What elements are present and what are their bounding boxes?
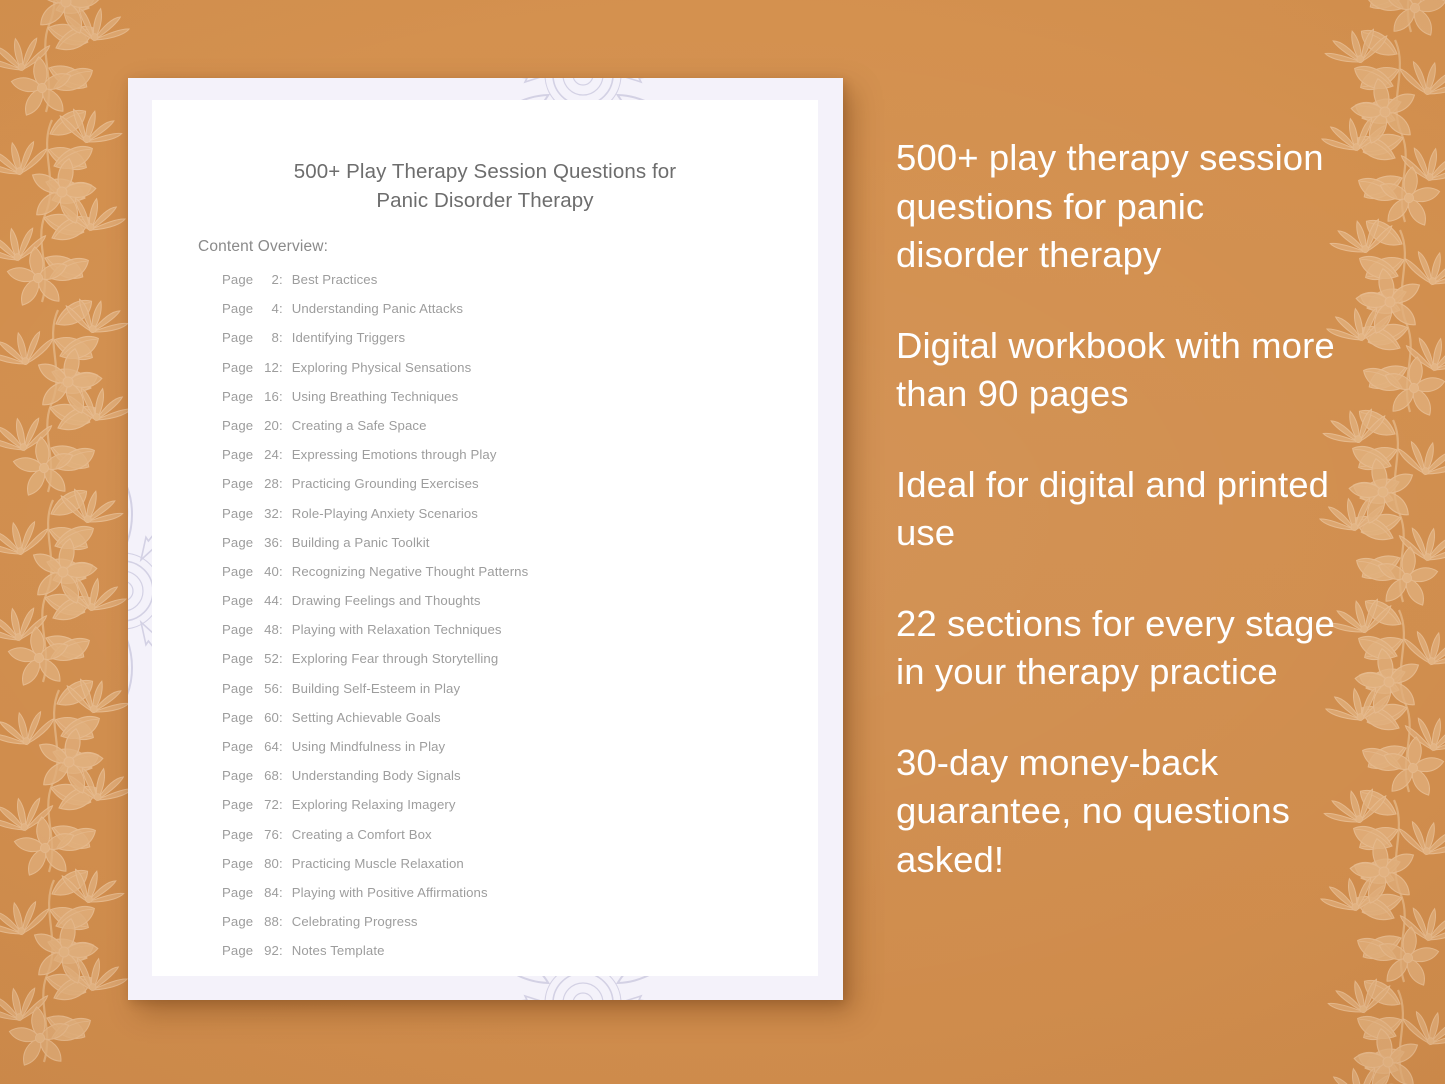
toc-page-word: Page bbox=[222, 768, 253, 783]
toc-entry: Page 60: Setting Achievable Goals bbox=[222, 710, 782, 739]
document-title-line-1: 500+ Play Therapy Session Questions for bbox=[212, 157, 758, 186]
toc-page-number: 12 bbox=[257, 360, 279, 375]
toc-entry: Page 4: Understanding Panic Attacks bbox=[222, 301, 782, 330]
table-of-contents: Page 2: Best Practices Page 4: Understan… bbox=[222, 272, 782, 973]
toc-colon: : bbox=[279, 739, 292, 754]
toc-page-word: Page bbox=[222, 301, 253, 316]
toc-entry-title: Notes Template bbox=[292, 943, 385, 958]
toc-page-word: Page bbox=[222, 564, 253, 579]
toc-entry-title: Practicing Muscle Relaxation bbox=[292, 856, 464, 871]
toc-entry: Page 28: Practicing Grounding Exercises bbox=[222, 476, 782, 505]
toc-entry: Page 68: Understanding Body Signals bbox=[222, 768, 782, 797]
promo-column: 500+ play therapy session questions for … bbox=[896, 134, 1336, 884]
toc-colon: : bbox=[279, 447, 292, 462]
toc-entry-title: Identifying Triggers bbox=[292, 330, 405, 345]
toc-colon: : bbox=[279, 885, 292, 900]
toc-page-number: 36 bbox=[257, 535, 279, 550]
toc-colon: : bbox=[279, 301, 292, 316]
toc-page-number: 24 bbox=[257, 447, 279, 462]
toc-colon: : bbox=[279, 681, 292, 696]
toc-entry: Page 80: Practicing Muscle Relaxation bbox=[222, 856, 782, 885]
toc-entry-title: Building Self-Esteem in Play bbox=[292, 681, 460, 696]
toc-entry: Page 36: Building a Panic Toolkit bbox=[222, 535, 782, 564]
toc-entry: Page 44: Drawing Feelings and Thoughts bbox=[222, 593, 782, 622]
toc-entry: Page 76: Creating a Comfort Box bbox=[222, 827, 782, 856]
toc-colon: : bbox=[279, 768, 292, 783]
toc-page-word: Page bbox=[222, 447, 253, 462]
document-title-line-2: Panic Disorder Therapy bbox=[212, 186, 758, 215]
toc-page-number: 16 bbox=[257, 389, 279, 404]
toc-page-number: 44 bbox=[257, 593, 279, 608]
toc-entry-title: Building a Panic Toolkit bbox=[292, 535, 430, 550]
toc-page-number: 32 bbox=[257, 506, 279, 521]
toc-entry-title: Using Breathing Techniques bbox=[292, 389, 459, 404]
toc-entry-title: Using Mindfulness in Play bbox=[292, 739, 446, 754]
toc-page-word: Page bbox=[222, 651, 253, 666]
toc-page-number: 40 bbox=[257, 564, 279, 579]
toc-colon: : bbox=[279, 272, 292, 287]
toc-page-number: 76 bbox=[257, 827, 279, 842]
toc-colon: : bbox=[279, 943, 292, 958]
toc-entry-title: Understanding Panic Attacks bbox=[292, 301, 463, 316]
toc-entry-title: Expressing Emotions through Play bbox=[292, 447, 497, 462]
toc-colon: : bbox=[279, 506, 292, 521]
toc-colon: : bbox=[279, 476, 292, 491]
toc-entry-title: Exploring Relaxing Imagery bbox=[292, 797, 456, 812]
toc-page-number: 88 bbox=[257, 914, 279, 929]
toc-page-word: Page bbox=[222, 856, 253, 871]
toc-colon: : bbox=[279, 914, 292, 929]
toc-entry: Page 48: Playing with Relaxation Techniq… bbox=[222, 622, 782, 651]
toc-page-word: Page bbox=[222, 827, 253, 842]
toc-page-word: Page bbox=[222, 739, 253, 754]
toc-page-word: Page bbox=[222, 885, 253, 900]
toc-entry: Page 72: Exploring Relaxing Imagery bbox=[222, 797, 782, 826]
toc-page-word: Page bbox=[222, 389, 253, 404]
toc-page-word: Page bbox=[222, 272, 253, 287]
toc-colon: : bbox=[279, 535, 292, 550]
promo-block-5: 30-day money-back guarantee, no question… bbox=[896, 739, 1336, 885]
promo-block-1: 500+ play therapy session questions for … bbox=[896, 134, 1336, 280]
toc-page-word: Page bbox=[222, 476, 253, 491]
toc-colon: : bbox=[279, 710, 292, 725]
toc-entry: Page 92: Notes Template bbox=[222, 943, 782, 972]
toc-entry-title: Best Practices bbox=[292, 272, 378, 287]
toc-colon: : bbox=[279, 418, 292, 433]
toc-entry: Page 40: Recognizing Negative Thought Pa… bbox=[222, 564, 782, 593]
toc-colon: : bbox=[279, 651, 292, 666]
toc-page-number: 64 bbox=[257, 739, 279, 754]
toc-entry: Page 24: Expressing Emotions through Pla… bbox=[222, 447, 782, 476]
toc-page-number: 72 bbox=[257, 797, 279, 812]
toc-page-number: 20 bbox=[257, 418, 279, 433]
toc-page-word: Page bbox=[222, 506, 253, 521]
toc-page-number: 4 bbox=[257, 301, 279, 316]
toc-page-number: 52 bbox=[257, 651, 279, 666]
toc-entry-title: Celebrating Progress bbox=[292, 914, 418, 929]
toc-page-word: Page bbox=[222, 330, 253, 345]
toc-page-word: Page bbox=[222, 914, 253, 929]
toc-entry-title: Recognizing Negative Thought Patterns bbox=[292, 564, 529, 579]
toc-colon: : bbox=[279, 622, 292, 637]
toc-colon: : bbox=[279, 564, 292, 579]
toc-entry-title: Understanding Body Signals bbox=[292, 768, 461, 783]
toc-colon: : bbox=[279, 389, 292, 404]
toc-entry: Page 64: Using Mindfulness in Play bbox=[222, 739, 782, 768]
toc-entry: Page 32: Role-Playing Anxiety Scenarios bbox=[222, 506, 782, 535]
toc-page-word: Page bbox=[222, 418, 253, 433]
toc-entry-title: Playing with Positive Affirmations bbox=[292, 885, 488, 900]
promo-block-4: 22 sections for every stage in your ther… bbox=[896, 600, 1336, 697]
toc-entry-title: Exploring Fear through Storytelling bbox=[292, 651, 499, 666]
toc-entry-title: Practicing Grounding Exercises bbox=[292, 476, 479, 491]
document-page: 500+ Play Therapy Session Questions for … bbox=[152, 100, 818, 976]
toc-page-word: Page bbox=[222, 710, 253, 725]
toc-page-number: 68 bbox=[257, 768, 279, 783]
toc-entry-title: Setting Achievable Goals bbox=[292, 710, 441, 725]
toc-page-number: 84 bbox=[257, 885, 279, 900]
document-title: 500+ Play Therapy Session Questions for … bbox=[152, 157, 818, 215]
toc-colon: : bbox=[279, 360, 292, 375]
floral-vine-left-icon bbox=[0, 0, 144, 1084]
toc-page-word: Page bbox=[222, 622, 253, 637]
toc-entry: Page 16: Using Breathing Techniques bbox=[222, 389, 782, 418]
toc-colon: : bbox=[279, 827, 292, 842]
toc-entry-title: Creating a Comfort Box bbox=[292, 827, 432, 842]
toc-page-number: 8 bbox=[257, 330, 279, 345]
toc-colon: : bbox=[279, 330, 292, 345]
toc-entry: Page 56: Building Self-Esteem in Play bbox=[222, 681, 782, 710]
toc-colon: : bbox=[279, 856, 292, 871]
toc-entry: Page 8: Identifying Triggers bbox=[222, 330, 782, 359]
toc-page-number: 2 bbox=[257, 272, 279, 287]
toc-page-number: 92 bbox=[257, 943, 279, 958]
toc-page-word: Page bbox=[222, 360, 253, 375]
toc-page-word: Page bbox=[222, 593, 253, 608]
toc-entry-title: Creating a Safe Space bbox=[292, 418, 427, 433]
promo-block-3: Ideal for digital and printed use bbox=[896, 461, 1336, 558]
toc-entry: Page 20: Creating a Safe Space bbox=[222, 418, 782, 447]
toc-page-word: Page bbox=[222, 535, 253, 550]
toc-page-number: 56 bbox=[257, 681, 279, 696]
toc-entry-title: Exploring Physical Sensations bbox=[292, 360, 472, 375]
toc-entry: Page 52: Exploring Fear through Storytel… bbox=[222, 651, 782, 680]
toc-entry: Page 12: Exploring Physical Sensations bbox=[222, 360, 782, 389]
toc-entry: Page 2: Best Practices bbox=[222, 272, 782, 301]
toc-entry: Page 84: Playing with Positive Affirmati… bbox=[222, 885, 782, 914]
toc-page-word: Page bbox=[222, 681, 253, 696]
toc-entry: Page 88: Celebrating Progress bbox=[222, 914, 782, 943]
toc-entry-title: Drawing Feelings and Thoughts bbox=[292, 593, 481, 608]
toc-page-number: 80 bbox=[257, 856, 279, 871]
toc-page-number: 28 bbox=[257, 476, 279, 491]
toc-page-word: Page bbox=[222, 943, 253, 958]
toc-entry-title: Playing with Relaxation Techniques bbox=[292, 622, 502, 637]
toc-page-number: 60 bbox=[257, 710, 279, 725]
toc-page-number: 48 bbox=[257, 622, 279, 637]
document-preview-card[interactable]: 500+ Play Therapy Session Questions for … bbox=[128, 78, 843, 1000]
content-overview-label: Content Overview: bbox=[198, 238, 328, 256]
toc-entry-title: Role-Playing Anxiety Scenarios bbox=[292, 506, 478, 521]
toc-colon: : bbox=[279, 797, 292, 812]
promo-block-2: Digital workbook with more than 90 pages bbox=[896, 322, 1336, 419]
toc-colon: : bbox=[279, 593, 292, 608]
toc-page-word: Page bbox=[222, 797, 253, 812]
